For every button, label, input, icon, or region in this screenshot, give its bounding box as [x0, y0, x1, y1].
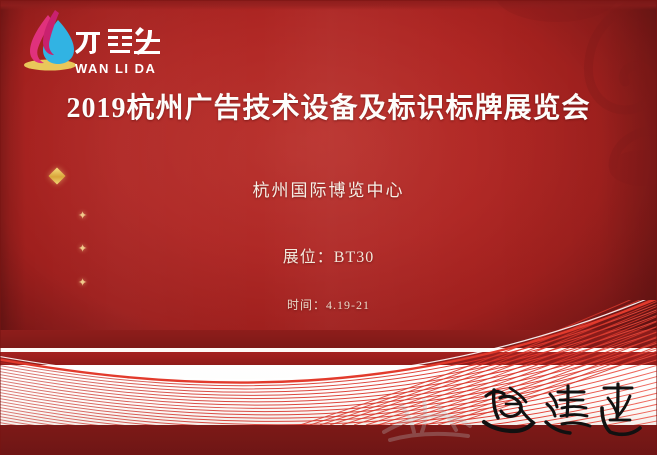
star-marker-3: ✦: [78, 279, 87, 288]
booth-text: 展位：BT30: [0, 243, 657, 267]
brand-en-text: WAN LI DA: [75, 61, 156, 76]
invitation-poster: WAN LI DA 2019杭州广告技术设备及标识标牌展览会 ✦ ✦ ✦ 杭州国…: [0, 0, 657, 455]
venue-text: 杭州国际博览中心: [0, 176, 657, 201]
invitation-calligraphy: [480, 378, 650, 440]
brand-logo: WAN LI DA: [14, 6, 164, 76]
page-title: 2019杭州广告技术设备及标识标牌展览会: [0, 86, 657, 126]
star-marker-1: ✦: [78, 212, 87, 221]
